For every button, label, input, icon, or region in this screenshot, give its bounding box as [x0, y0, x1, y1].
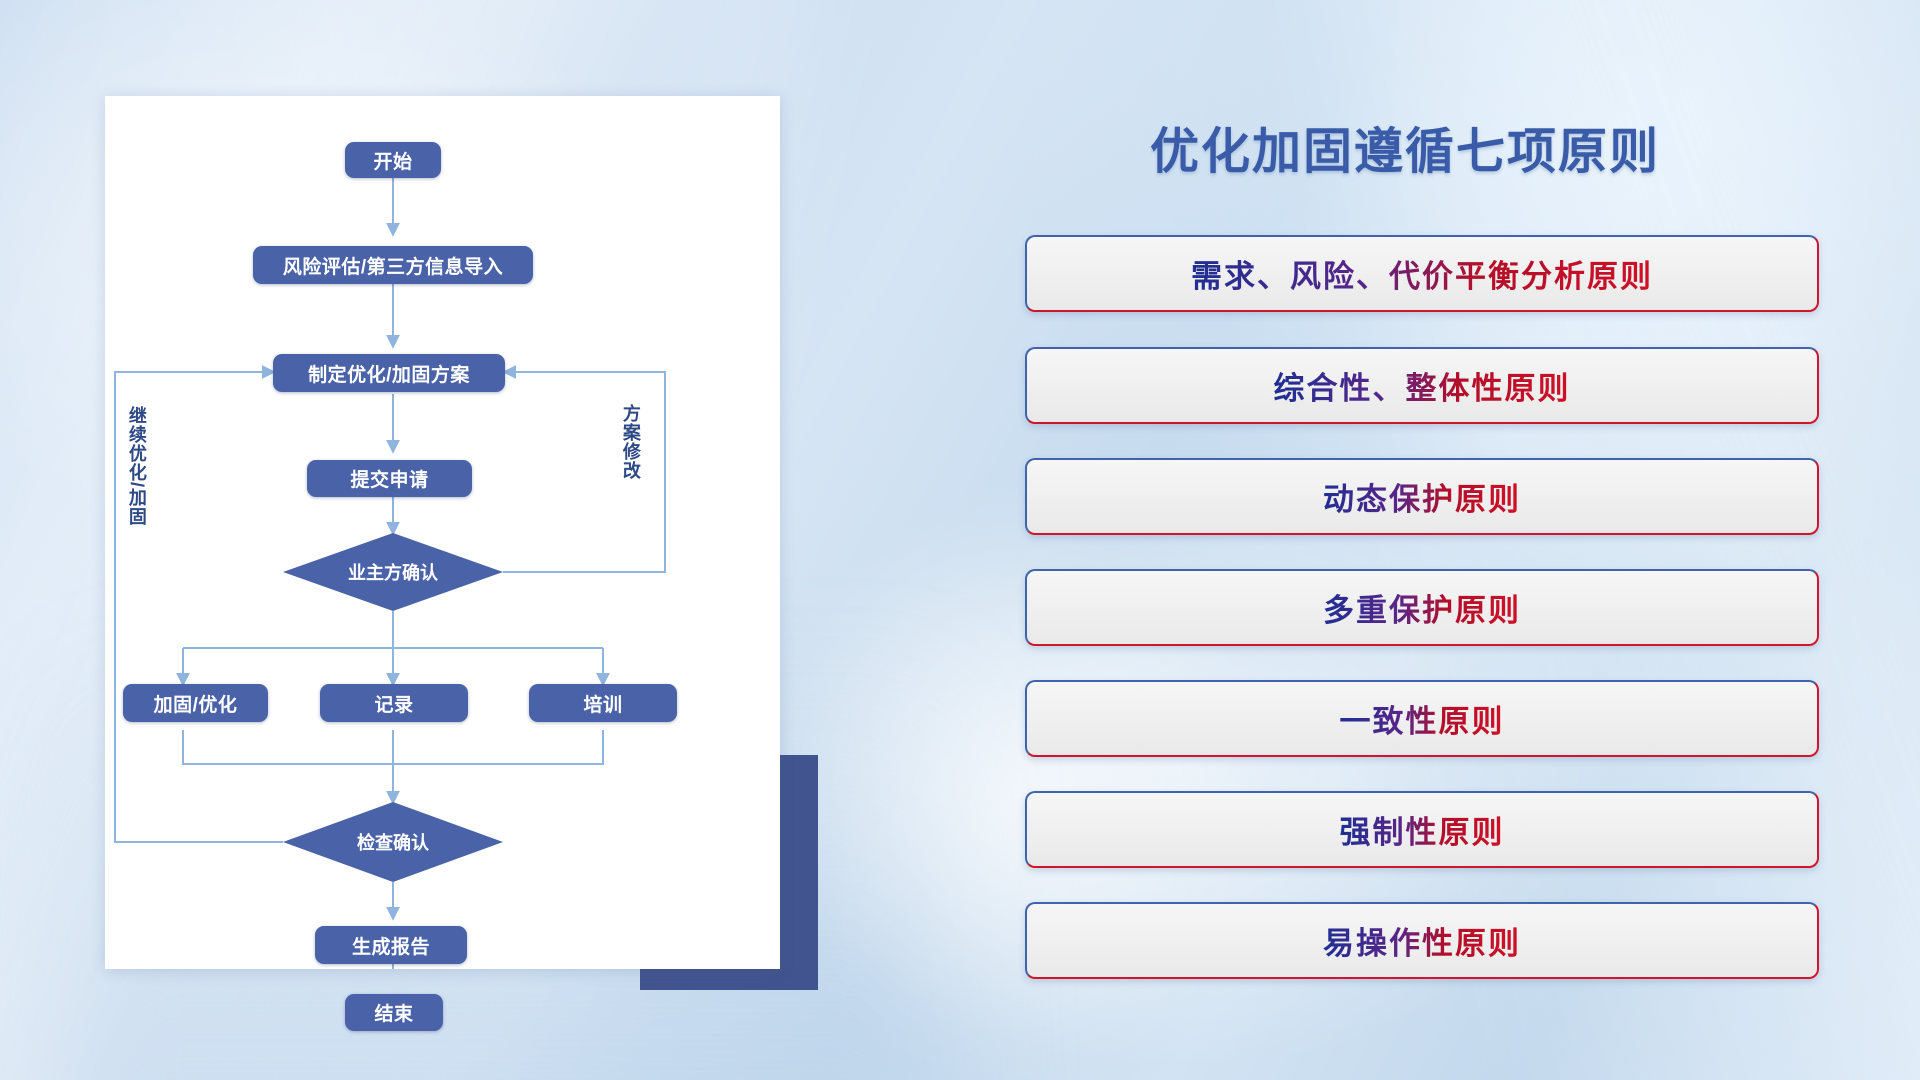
flow-decision-inspect-confirm[interactable]: 检查确认 [283, 802, 503, 882]
principle-card-5-label: 一致性原则 [1340, 696, 1505, 741]
flowchart-panel: 开始 风险评估/第三方信息导入 制定优化/加固方案 提交申请 业主方确认 加固/… [105, 96, 780, 969]
principle-card-4-label: 多重保护原则 [1323, 585, 1521, 630]
principle-card-4[interactable]: 多重保护原则 [1025, 569, 1819, 646]
flow-node-start-label: 开始 [373, 147, 412, 174]
flow-node-record[interactable]: 记录 [320, 684, 468, 722]
principle-card-6[interactable]: 强制性原则 [1025, 791, 1819, 868]
flow-node-record-label: 记录 [374, 690, 413, 717]
principle-card-5[interactable]: 一致性原则 [1025, 680, 1819, 757]
flow-node-start[interactable]: 开始 [345, 142, 441, 178]
flow-decision-owner-confirm-label: 业主方确认 [348, 559, 438, 585]
flow-node-end-label: 结束 [374, 999, 413, 1026]
flow-node-end[interactable]: 结束 [345, 994, 443, 1031]
flow-node-reinforce-label: 加固/优化 [154, 690, 238, 717]
flow-node-reinforce[interactable]: 加固/优化 [123, 684, 268, 722]
principle-card-1-label: 需求、风险、代价平衡分析原则 [1191, 251, 1653, 296]
principle-card-3-label: 动态保护原则 [1323, 474, 1521, 519]
flow-node-report-label: 生成报告 [352, 932, 430, 959]
flow-node-submit-label: 提交申请 [350, 465, 428, 492]
principle-card-3[interactable]: 动态保护原则 [1025, 458, 1819, 535]
principle-card-2[interactable]: 综合性、整体性原则 [1025, 347, 1819, 424]
flow-node-training-label: 培训 [583, 690, 622, 717]
flow-node-risk-assessment-label: 风险评估/第三方信息导入 [283, 252, 503, 279]
principle-card-7-label: 易操作性原则 [1323, 918, 1521, 963]
flow-node-submit[interactable]: 提交申请 [307, 460, 472, 497]
flow-node-report[interactable]: 生成报告 [315, 926, 467, 964]
principle-card-7[interactable]: 易操作性原则 [1025, 902, 1819, 979]
principle-card-6-label: 强制性原则 [1340, 807, 1505, 852]
principle-card-2-label: 综合性、整体性原则 [1274, 363, 1571, 408]
flow-decision-inspect-confirm-label: 检查确认 [357, 829, 429, 855]
flow-edge-label-right-loop: 方案修改 [621, 404, 640, 480]
flow-node-risk-assessment[interactable]: 风险评估/第三方信息导入 [253, 246, 533, 284]
slide-canvas: 开始 风险评估/第三方信息导入 制定优化/加固方案 提交申请 业主方确认 加固/… [0, 0, 1920, 1080]
page-title: 优化加固遵循七项原则 [1150, 112, 1660, 183]
flow-edge-label-left-loop: 继续优化/加固 [127, 406, 146, 526]
flow-decision-owner-confirm[interactable]: 业主方确认 [283, 533, 503, 611]
flow-node-training[interactable]: 培训 [529, 684, 677, 722]
flow-node-plan-label: 制定优化/加固方案 [308, 360, 470, 387]
flow-node-plan[interactable]: 制定优化/加固方案 [273, 354, 505, 392]
principle-card-1[interactable]: 需求、风险、代价平衡分析原则 [1025, 235, 1819, 312]
principles-panel: 优化加固遵循七项原则 需求、风险、代价平衡分析原则 综合性、整体性原则 动态保护… [1010, 0, 1920, 1080]
